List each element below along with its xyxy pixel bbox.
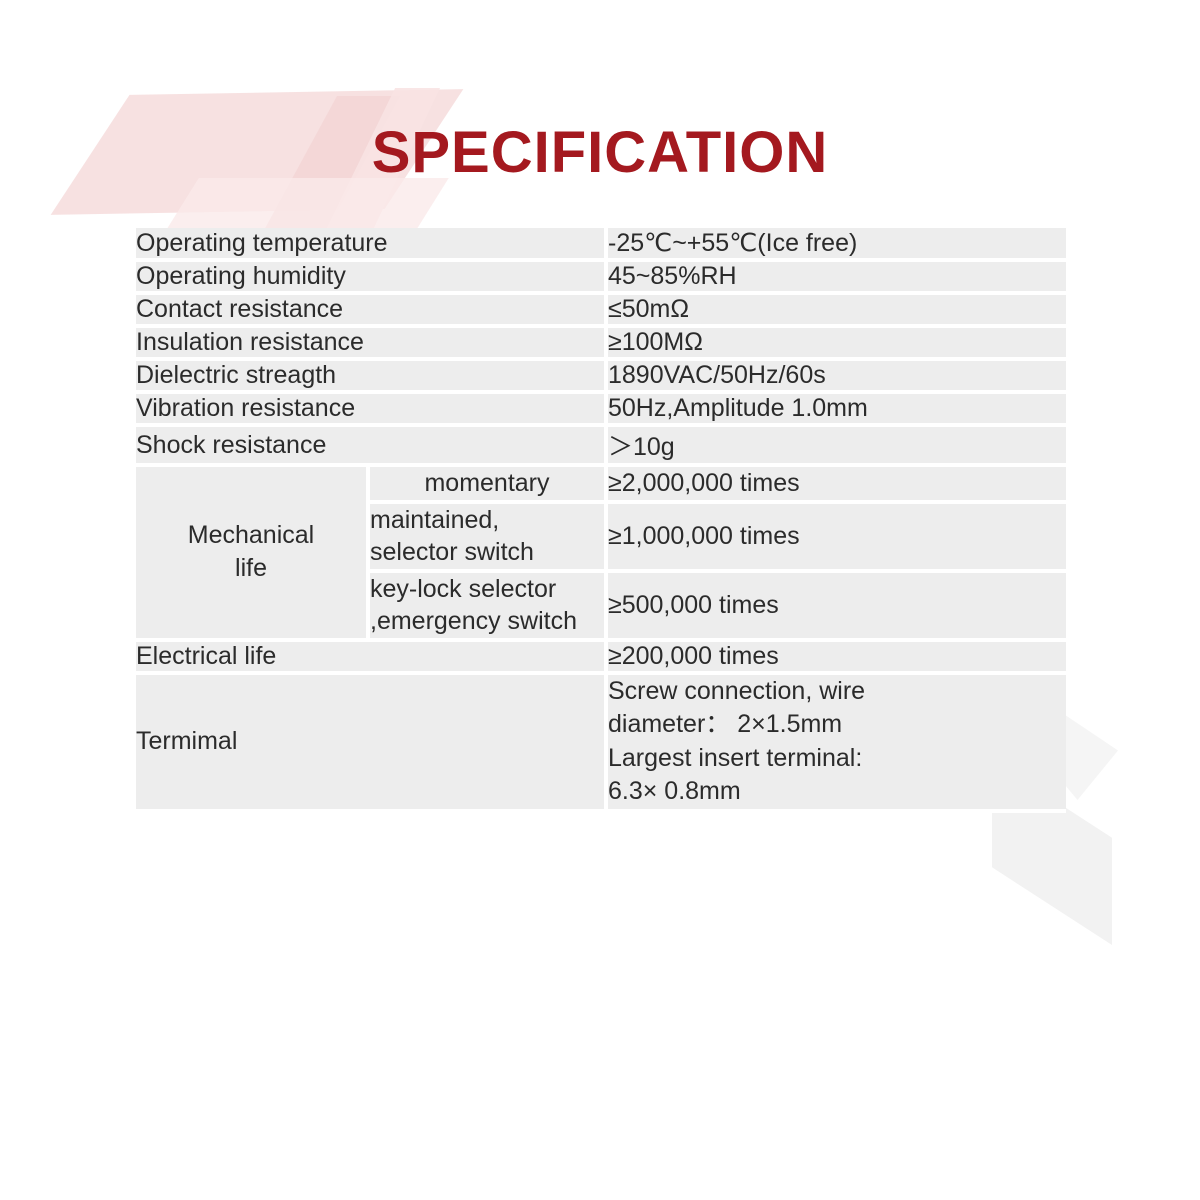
row-value-electrical-life: ≥200,000 times (608, 642, 1066, 675)
row-value-vibration-resistance: 50Hz,Amplitude 1.0mm (608, 394, 1066, 427)
row-value-operating-humidity: 45~85%RH (608, 262, 1066, 295)
row-value-operating-temperature: -25℃~+55℃(Ice free) (608, 228, 1066, 262)
sub-label-key-lock-emergency-switch: key-lock selector ,emergency switch (370, 573, 608, 642)
table-row-mechanical-life-1: Mechanical life momentary ≥2,000,000 tim… (136, 467, 1066, 504)
row-label-operating-humidity: Operating humidity (136, 262, 608, 295)
row-label-dielectric-strength: Dielectric streagth (136, 361, 608, 394)
mechanical-life-label-line1: Mechanical (136, 519, 366, 553)
row-label-insulation-resistance: Insulation resistance (136, 328, 608, 361)
row-value-insulation-resistance: ≥100MΩ (608, 328, 1066, 361)
sub-value-key-lock-emergency-switch: ≥500,000 times (608, 573, 1066, 642)
row-value-dielectric-strength: 1890VAC/50Hz/60s (608, 361, 1066, 394)
page-title: SPECIFICATION (0, 124, 1200, 182)
sub-label-maintained-selector-switch: maintained, selector switch (370, 504, 608, 573)
table-row: Dielectric streagth 1890VAC/50Hz/60s (136, 361, 1066, 394)
table-row: Contact resistance ≤50mΩ (136, 295, 1066, 328)
row-label-mechanical-life: Mechanical life (136, 467, 370, 642)
row-label-shock-resistance: Shock resistance (136, 427, 608, 467)
row-value-contact-resistance: ≤50mΩ (608, 295, 1066, 328)
row-label-contact-resistance: Contact resistance (136, 295, 608, 328)
table-row: Operating temperature -25℃~+55℃(Ice free… (136, 228, 1066, 262)
table-row: Electrical life ≥200,000 times (136, 642, 1066, 675)
specification-table: Operating temperature -25℃~+55℃(Ice free… (136, 228, 1066, 813)
table-row: Shock resistance ＞10g (136, 427, 1066, 467)
row-label-terminal: Termimal (136, 675, 608, 813)
mechanical-life-label-line2: life (136, 552, 366, 586)
sub-label-momentary: momentary (370, 467, 608, 504)
specification-page: SPECIFICATION Operating temperature -25℃… (0, 0, 1200, 1200)
table-row: Termimal Screw connection, wire diameter… (136, 675, 1066, 813)
row-value-terminal: Screw connection, wire diameter： 2×1.5mm… (608, 675, 1066, 813)
row-label-vibration-resistance: Vibration resistance (136, 394, 608, 427)
table-row: Insulation resistance ≥100MΩ (136, 328, 1066, 361)
sub-value-momentary: ≥2,000,000 times (608, 467, 1066, 504)
row-value-shock-resistance: ＞10g (608, 427, 1066, 467)
sub-value-maintained-selector-switch: ≥1,000,000 times (608, 504, 1066, 573)
row-label-electrical-life: Electrical life (136, 642, 608, 675)
table-row: Vibration resistance 50Hz,Amplitude 1.0m… (136, 394, 1066, 427)
table-row: Operating humidity 45~85%RH (136, 262, 1066, 295)
row-label-operating-temperature: Operating temperature (136, 228, 608, 262)
